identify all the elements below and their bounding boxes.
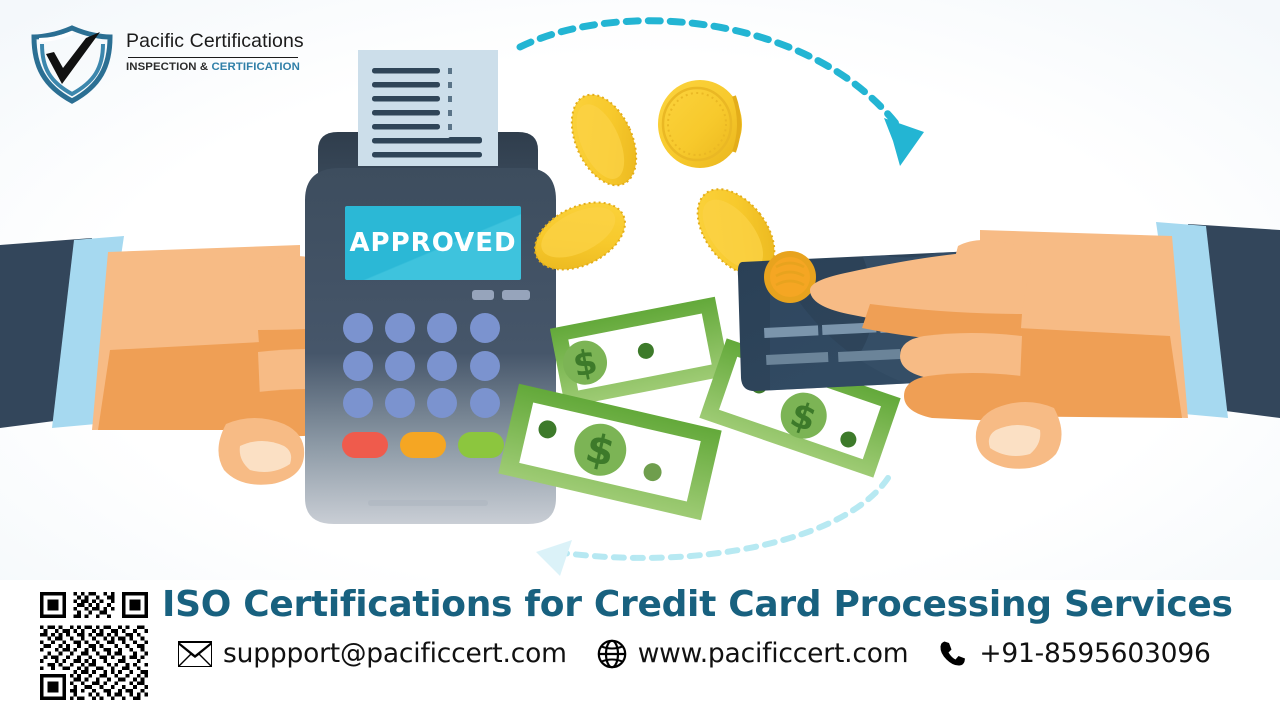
contact-website-text: www.pacificcert.com bbox=[638, 638, 909, 669]
logo-tagline-part1: INSPECTION & bbox=[126, 61, 211, 73]
receipt-paper-icon bbox=[358, 50, 498, 166]
brand-logo[interactable]: Pacific Certifications INSPECTION & CERT… bbox=[26, 24, 291, 104]
globe-icon bbox=[597, 639, 627, 669]
qr-code-icon[interactable] bbox=[40, 592, 148, 700]
shield-check-icon bbox=[26, 24, 118, 104]
envelope-icon bbox=[178, 641, 212, 667]
logo-title: Pacific Certifications bbox=[126, 32, 306, 52]
enter-key bbox=[458, 432, 504, 458]
logo-divider bbox=[128, 57, 298, 59]
cancel-key bbox=[342, 432, 388, 458]
svg-text:APPROVED: APPROVED bbox=[349, 228, 516, 258]
logo-wordmark: Pacific Certifications INSPECTION & CERT… bbox=[126, 32, 306, 73]
poster-canvas: APPROVED bbox=[0, 0, 1280, 720]
contact-email[interactable]: suppport@pacificcert.com bbox=[178, 638, 567, 669]
logo-tagline: INSPECTION & CERTIFICATION bbox=[126, 61, 306, 73]
clear-key bbox=[400, 432, 446, 458]
contact-email-text: suppport@pacificcert.com bbox=[223, 638, 567, 669]
card-chip-icon bbox=[764, 251, 816, 303]
contact-phone[interactable]: +91-8595603096 bbox=[938, 638, 1210, 669]
contact-phone-text: +91-8595603096 bbox=[979, 638, 1210, 669]
logo-tagline-part2: CERTIFICATION bbox=[211, 61, 299, 73]
footer-banner: ISO Certifications for Credit Card Proce… bbox=[0, 580, 1280, 720]
phone-icon bbox=[938, 639, 968, 669]
contact-website[interactable]: www.pacificcert.com bbox=[597, 638, 909, 669]
contact-bar: suppport@pacificcert.com www.pacificcert… bbox=[178, 638, 1211, 669]
page-title: ISO Certifications for Credit Card Proce… bbox=[162, 584, 1233, 625]
gold-coin-icon bbox=[524, 80, 790, 289]
